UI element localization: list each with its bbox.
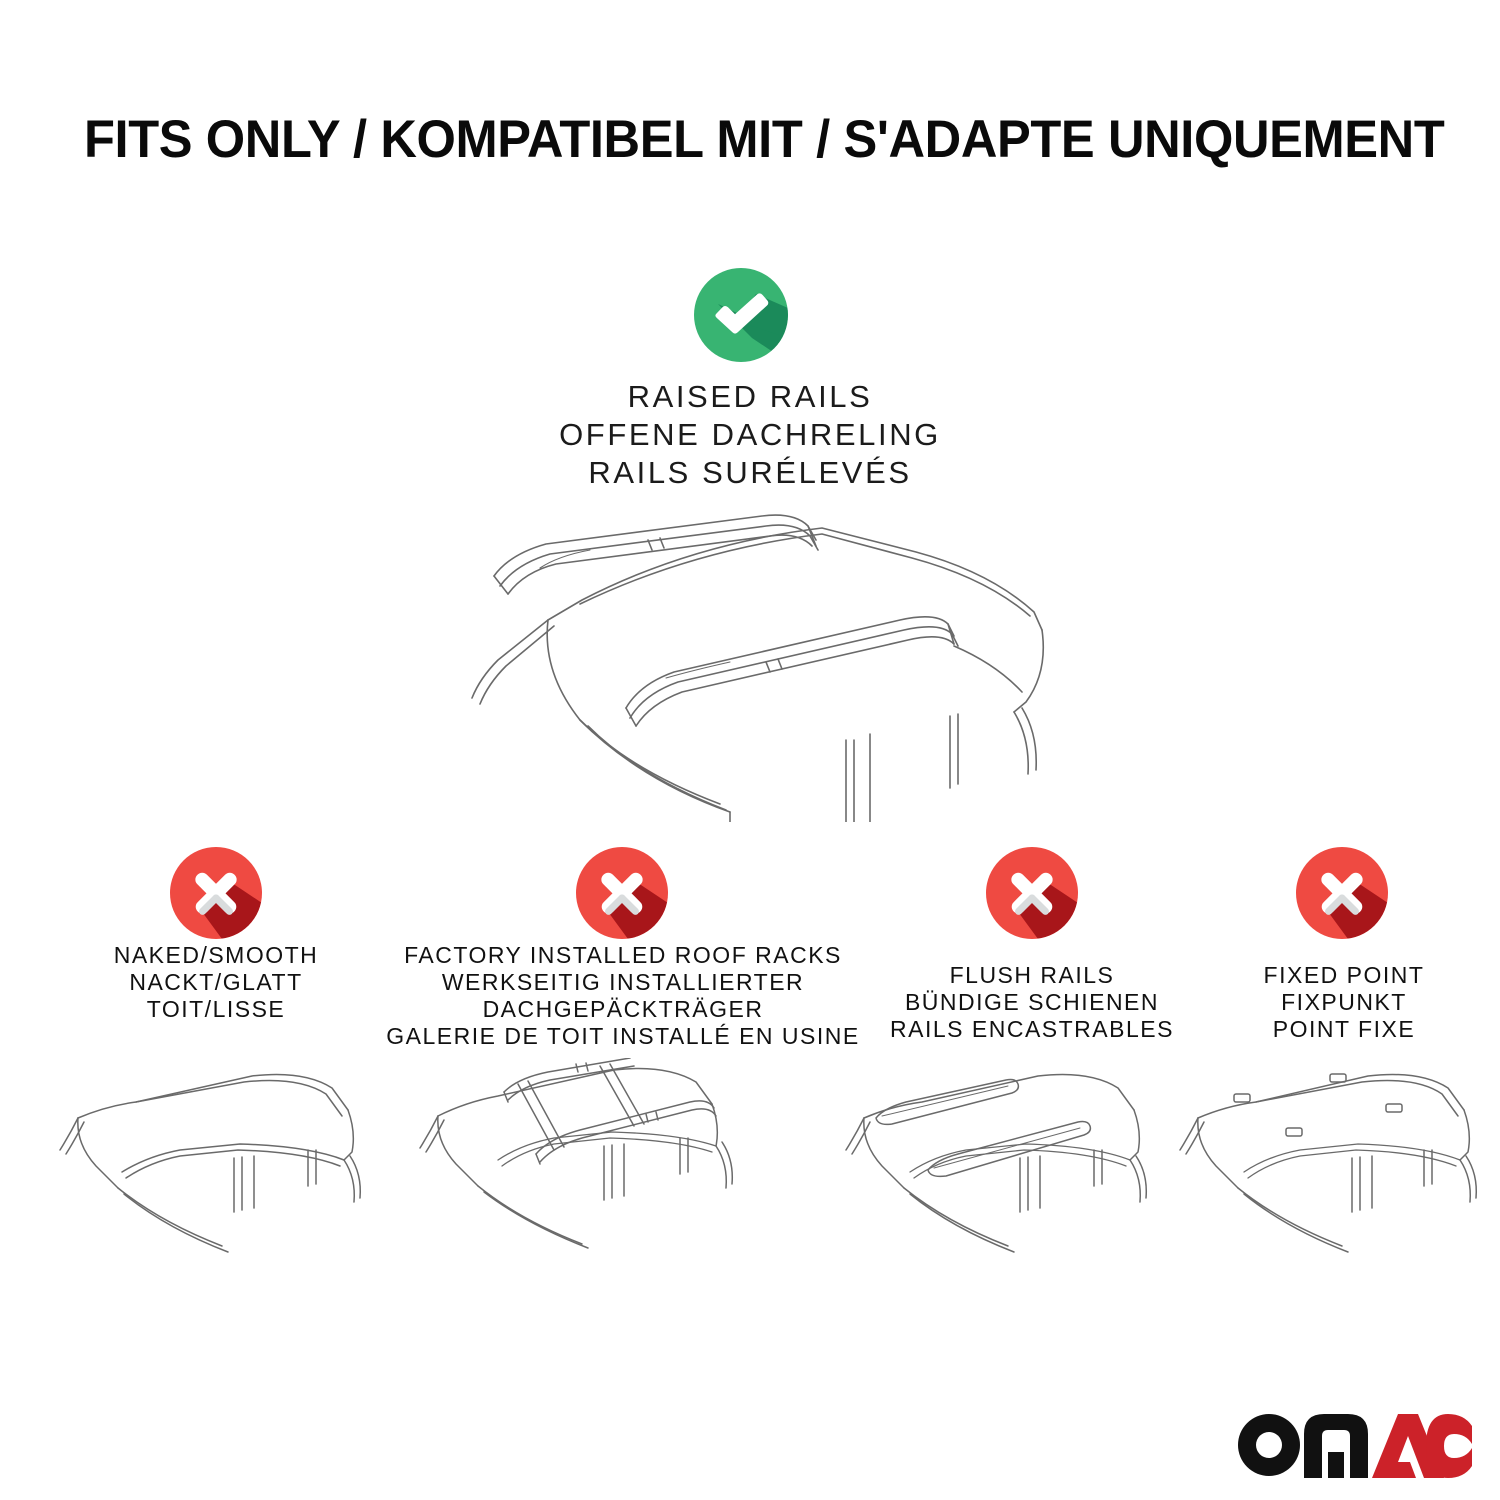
car-roof-flush-rails-illustration bbox=[828, 1062, 1178, 1292]
car-roof-naked-illustration bbox=[40, 1062, 390, 1292]
car-roof-raised-rails-illustration bbox=[430, 512, 1090, 822]
x-glyph bbox=[986, 847, 1078, 939]
omac-logo bbox=[1238, 1412, 1472, 1478]
compatible-caption: RAISED RAILS OFFENE DACHRELING RAILS SUR… bbox=[400, 378, 1100, 492]
incompatible-caption-flush-rails: FLUSH RAILS BÜNDIGE SCHIENEN RAILS ENCAS… bbox=[862, 962, 1202, 1043]
x-circle-icon bbox=[576, 847, 668, 939]
check-glyph bbox=[694, 268, 788, 362]
incompatible-caption-naked: NAKED/SMOOTH NACKT/GLATT TOIT/LISSE bbox=[26, 942, 406, 1023]
page-title: FITS ONLY / KOMPATIBEL MIT / S'ADAPTE UN… bbox=[84, 112, 1364, 168]
check-circle-icon bbox=[694, 268, 788, 362]
x-circle-icon bbox=[170, 847, 262, 939]
x-circle-icon bbox=[986, 847, 1078, 939]
x-glyph bbox=[1296, 847, 1388, 939]
car-roof-factory-racks-illustration bbox=[408, 1058, 768, 1293]
incompatible-caption-fixed-point: FIXED POINT FIXPUNKT POINT FIXE bbox=[1204, 962, 1484, 1043]
x-glyph bbox=[170, 847, 262, 939]
x-glyph bbox=[576, 847, 668, 939]
car-roof-fixed-point-illustration bbox=[1172, 1062, 1492, 1292]
x-circle-icon bbox=[1296, 847, 1388, 939]
incompatible-caption-factory-racks: FACTORY INSTALLED ROOF RACKS WERKSEITIG … bbox=[378, 942, 868, 1050]
